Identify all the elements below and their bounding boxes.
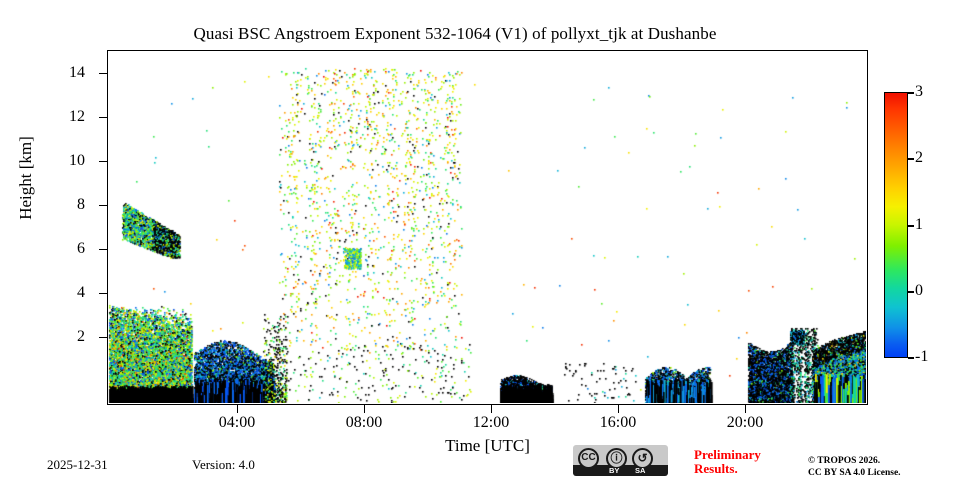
x-tick-label: 12:00 xyxy=(446,414,536,432)
heatmap-canvas xyxy=(108,51,866,403)
x-tick-label: 16:00 xyxy=(573,414,663,432)
colorbar-tick-mark xyxy=(908,291,914,293)
cc-icon: CC xyxy=(578,448,599,469)
y-tick-label: 2 xyxy=(25,328,85,346)
y-tick-label: 4 xyxy=(25,284,85,302)
y-tick-mark xyxy=(99,117,107,119)
y-tick-label: 10 xyxy=(25,152,85,170)
colorbar-tick-label: 0 xyxy=(915,282,923,300)
y-tick-mark xyxy=(99,293,107,295)
version-label: Version: 4.0 xyxy=(192,457,255,473)
y-tick-label: 12 xyxy=(25,108,85,126)
x-tick-mark xyxy=(491,405,493,413)
colorbar xyxy=(884,92,908,358)
y-tick-mark xyxy=(99,249,107,251)
x-tick-mark xyxy=(618,405,620,413)
colorbar-tick-mark xyxy=(908,225,914,227)
y-tick-label: 6 xyxy=(25,240,85,258)
x-tick-mark xyxy=(364,405,366,413)
x-tick-label: 20:00 xyxy=(700,414,790,432)
colorbar-tick-mark xyxy=(908,158,914,160)
preliminary-results-note: Preliminary Results. xyxy=(694,448,804,476)
colorbar-tick-label: 1 xyxy=(915,216,923,234)
page-title: Quasi BSC Angstroem Exponent 532-1064 (V… xyxy=(0,24,910,44)
colorbar-tick-label: 2 xyxy=(915,149,923,167)
x-tick-label: 04:00 xyxy=(192,414,282,432)
y-tick-mark xyxy=(99,73,107,75)
y-tick-label: 14 xyxy=(25,64,85,82)
cc-sa-label: SA xyxy=(635,465,645,476)
colorbar-tick-mark xyxy=(908,357,914,359)
colorbar-tick-mark xyxy=(908,92,914,94)
y-tick-mark xyxy=(99,205,107,207)
cc-license-badge[interactable]: CC ⓘ ↺ BY SA xyxy=(573,445,668,476)
x-tick-label: 08:00 xyxy=(319,414,409,432)
x-tick-mark xyxy=(745,405,747,413)
y-tick-mark xyxy=(99,161,107,163)
copyright-line-1: © TROPOS 2026. xyxy=(808,455,958,467)
colorbar-tick-label: -1 xyxy=(915,348,928,366)
heatmap-plot-area[interactable] xyxy=(107,50,868,405)
cc-by-label: BY xyxy=(609,465,619,476)
y-tick-mark xyxy=(99,337,107,339)
figure-root: Quasi BSC Angstroem Exponent 532-1064 (V… xyxy=(0,0,960,480)
copyright-note: © TROPOS 2026. CC BY SA 4.0 License. xyxy=(808,455,958,479)
copyright-line-2: CC BY SA 4.0 License. xyxy=(808,467,958,479)
x-tick-mark xyxy=(237,405,239,413)
y-tick-label: 8 xyxy=(25,196,85,214)
date-label: 2025-12-31 xyxy=(47,457,108,473)
colorbar-tick-label: 3 xyxy=(915,83,923,101)
